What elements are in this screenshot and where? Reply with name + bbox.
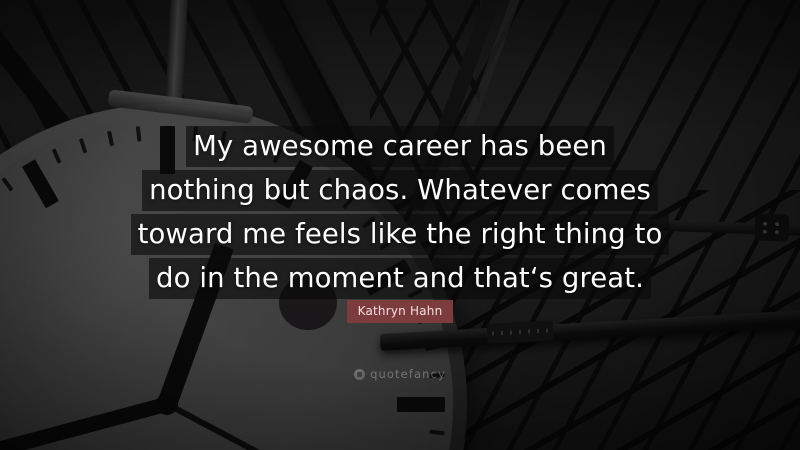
- quote-line: My awesome career has been: [186, 126, 614, 167]
- quote-text-block: My awesome career has been nothing but c…: [0, 126, 800, 302]
- author-name-badge: Kathryn Hahn: [347, 300, 454, 323]
- quote-line: toward me feels like the right thing to: [131, 214, 670, 255]
- watermark-label: quotefancy: [370, 367, 446, 381]
- watermark: quotefancy: [0, 367, 800, 381]
- quotefancy-logo-icon: [354, 369, 365, 380]
- quote-line: nothing but chaos. Whatever comes: [142, 170, 658, 211]
- quote-line: do in the moment and that‘s great.: [149, 258, 651, 299]
- author-attribution: Kathryn Hahn: [0, 300, 800, 323]
- quote-image: My awesome career has been nothing but c…: [0, 0, 800, 450]
